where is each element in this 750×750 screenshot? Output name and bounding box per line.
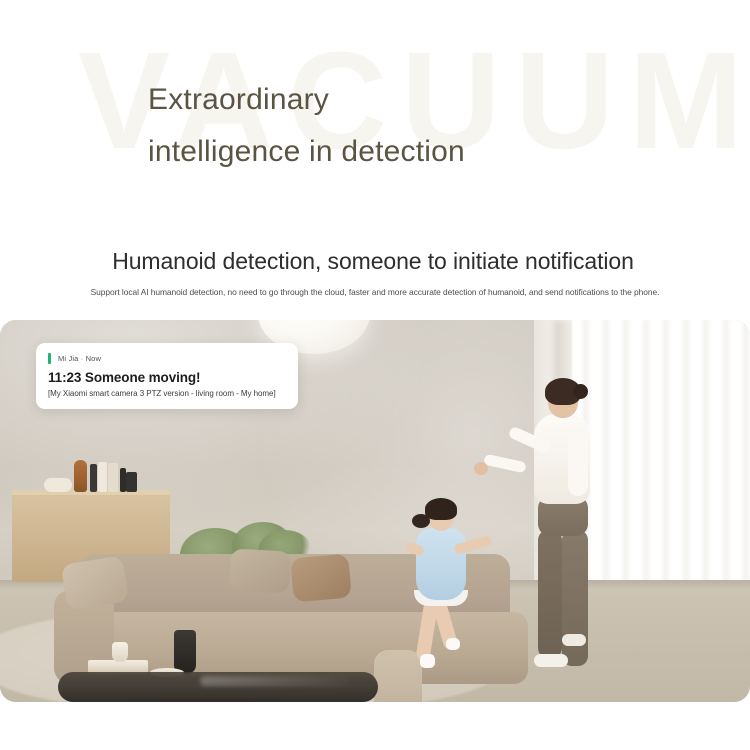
adult-hand-left <box>474 462 488 475</box>
section-description: Support local AI humanoid detection, no … <box>0 287 750 297</box>
table-vase <box>174 630 196 674</box>
notification-title: 11:23 Someone moving! <box>48 370 286 385</box>
child-dress <box>416 528 466 600</box>
adult-arm-right <box>568 432 588 496</box>
hero-headline-line-2: intelligence in detection <box>148 126 708 178</box>
decor-book-light <box>98 462 107 492</box>
decor-amber-bottle <box>74 460 87 492</box>
child-sock-right <box>446 638 460 650</box>
notification-card[interactable]: Mi Jia · Now 11:23 Someone moving! [My X… <box>36 343 298 409</box>
figure-adult <box>516 380 626 690</box>
hero-headline-line-1: Extraordinary <box>148 74 708 126</box>
throw-pillow-center <box>229 548 291 593</box>
notification-header: Mi Jia · Now <box>48 353 286 364</box>
decor-black-box <box>126 472 137 492</box>
decor-book-cream <box>108 463 118 492</box>
table-jar <box>112 642 128 662</box>
hero-headline: Extraordinary intelligence in detection <box>148 74 708 178</box>
section-heading: Humanoid detection, someone to initiate … <box>0 248 750 275</box>
decor-coral <box>44 478 72 492</box>
notification-subtitle: [My Xiaomi smart camera 3 PTZ version - … <box>48 389 286 398</box>
app-accent-bar <box>48 353 51 364</box>
notification-app-line: Mi Jia · Now <box>58 354 101 363</box>
table-reflection <box>200 676 350 686</box>
throw-pillow-left <box>61 555 129 610</box>
child-sock-left <box>420 654 435 668</box>
throw-pillow-brown <box>290 554 352 603</box>
figure-child <box>406 498 490 688</box>
child-hair <box>425 498 457 520</box>
adult-hair-bun <box>573 384 588 399</box>
marketing-page: VACUUM Extraordinary intelligence in det… <box>0 0 750 750</box>
decor-book-dark <box>90 464 97 492</box>
adult-leg-left <box>538 530 562 658</box>
adult-shoe-left <box>534 654 568 667</box>
feature-photo: Mi Jia · Now 11:23 Someone moving! [My X… <box>0 320 750 702</box>
child-ponytail <box>412 514 430 528</box>
adult-shoe-right <box>562 634 586 646</box>
